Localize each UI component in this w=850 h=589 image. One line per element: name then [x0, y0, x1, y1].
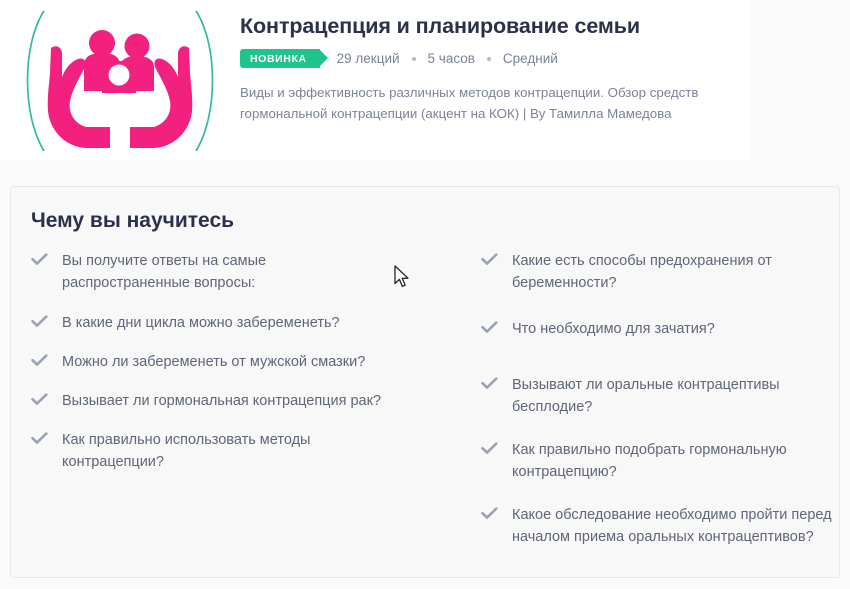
- list-item-label: Как правильно подобрать гормональную кон…: [512, 439, 850, 483]
- list-item-label: Какие есть способы предохранения от бере…: [512, 250, 850, 294]
- meta-separator-dot: [412, 57, 416, 61]
- hands-holding-family-icon: [14, 3, 226, 158]
- list-item-label: Вызывают ли оральные контрацептивы беспл…: [512, 374, 850, 418]
- check-icon: [481, 442, 498, 460]
- list-item: Можно ли забеременеть от мужской смазки?: [31, 351, 431, 373]
- check-icon: [31, 354, 48, 372]
- check-icon: [481, 507, 498, 525]
- section-heading: Чему вы научитесь: [11, 187, 839, 233]
- list-item: Вы получите ответы на самые распростране…: [31, 250, 431, 294]
- course-header-card: Контрацепция и планирование семьи НОВИНК…: [0, 0, 750, 160]
- learn-column-right: Какие есть способы предохранения от бере…: [481, 250, 850, 567]
- meta-separator-dot: [487, 57, 491, 61]
- check-icon: [481, 253, 498, 271]
- new-badge: НОВИНКА: [240, 49, 320, 68]
- what-you-will-learn-card: Чему вы научитесь Вы получите ответы на …: [10, 186, 840, 578]
- course-meta-row: НОВИНКА 29 лекций 5 часов Средний: [240, 49, 732, 69]
- check-icon: [31, 393, 48, 411]
- course-logo: [0, 0, 240, 160]
- duration-label: 5 часов: [428, 51, 475, 66]
- list-item: Как правильно подобрать гормональную кон…: [481, 439, 850, 483]
- learn-items-columns: Вы получите ответы на самые распростране…: [11, 233, 839, 567]
- list-item-label: Вы получите ответы на самые распростране…: [62, 250, 392, 294]
- level-label: Средний: [503, 51, 558, 66]
- course-description: Виды и эффективность различных методов к…: [240, 82, 732, 125]
- list-item: В какие дни цикла можно забеременеть?: [31, 312, 431, 334]
- course-title: Контрацепция и планирование семьи: [240, 14, 732, 40]
- list-item: Как правильно использовать методы контра…: [31, 429, 431, 473]
- course-header-text: Контрацепция и планирование семьи НОВИНК…: [240, 0, 750, 125]
- check-icon: [31, 315, 48, 333]
- lectures-count: 29 лекций: [337, 51, 400, 66]
- list-item: Вызывают ли оральные контрацептивы беспл…: [481, 374, 850, 418]
- list-item-label: Какое обследование необходимо пройти пер…: [512, 504, 850, 548]
- list-item: Какое обследование необходимо пройти пер…: [481, 504, 850, 548]
- check-icon: [31, 253, 48, 271]
- check-icon: [31, 432, 48, 450]
- learn-column-left: Вы получите ответы на самые распростране…: [31, 250, 431, 567]
- check-icon: [481, 377, 498, 395]
- list-item-label: Можно ли забеременеть от мужской смазки?: [62, 351, 365, 373]
- list-item: Что необходимо для зачатия?: [481, 318, 850, 340]
- list-item-label: Как правильно использовать методы контра…: [62, 429, 392, 473]
- list-item-label: Вызывает ли гормональная контрацепция ра…: [62, 390, 381, 412]
- list-item-label: Что необходимо для зачатия?: [512, 318, 715, 340]
- list-item: Какие есть способы предохранения от бере…: [481, 250, 850, 294]
- list-item: Вызывает ли гормональная контрацепция ра…: [31, 390, 431, 412]
- check-icon: [481, 321, 498, 339]
- list-item-label: В какие дни цикла можно забеременеть?: [62, 312, 340, 334]
